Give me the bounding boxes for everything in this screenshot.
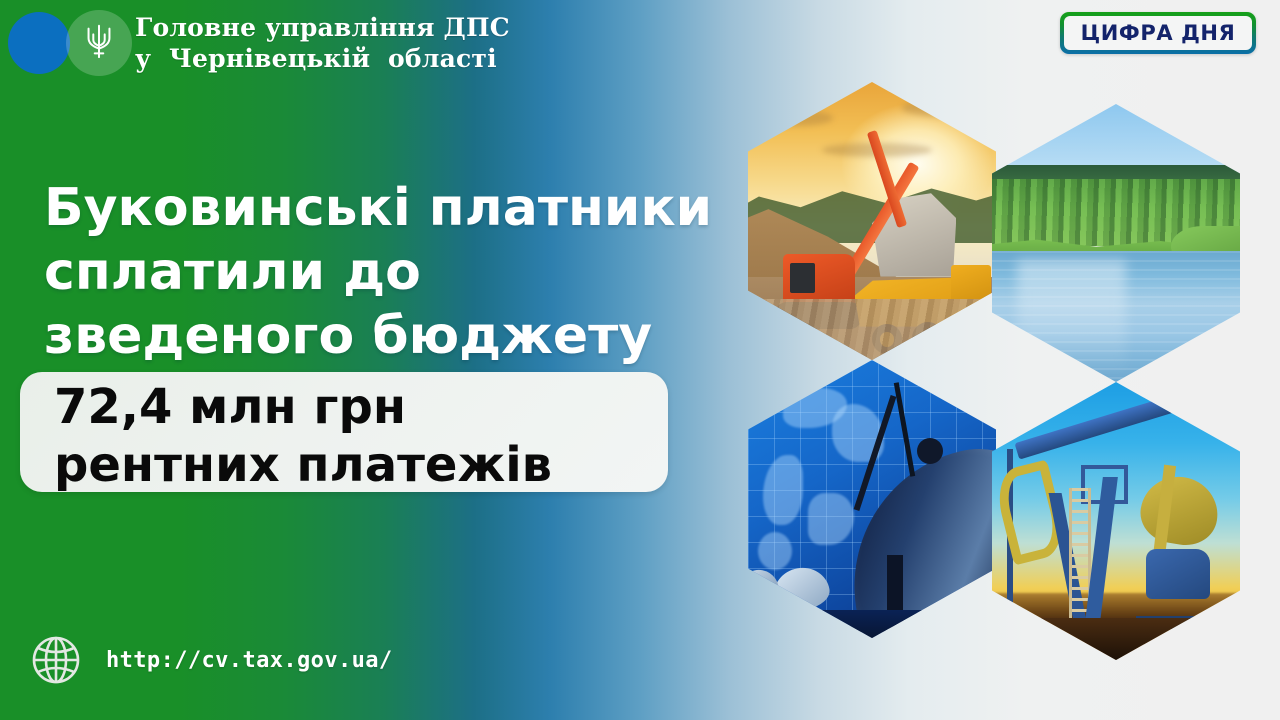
footer: http://cv.tax.gov.ua/ (28, 632, 393, 688)
hex-radio-image (748, 360, 996, 638)
ukraine-trident-icon (82, 22, 116, 65)
poster-canvas: Головне управління ДПС у Чернівецькій об… (0, 0, 1280, 720)
logo-blue-circle (8, 12, 70, 74)
highlight-amount-text: 72,4 млн грн рентних платежів (54, 378, 668, 494)
hex-oil-image (992, 382, 1240, 660)
globe-icon (28, 632, 84, 688)
logo-emblem-circle (66, 10, 132, 76)
hexagon-image-cluster (740, 82, 1250, 642)
figure-of-the-day-badge[interactable]: ЦИФРА ДНЯ (1060, 12, 1256, 54)
badge-label: ЦИФРА ДНЯ (1081, 21, 1236, 45)
hex-water-image (992, 104, 1240, 382)
website-url-link[interactable]: http://cv.tax.gov.ua/ (106, 648, 393, 673)
hex-mining-image (748, 82, 996, 360)
page-title: Буковинські платники сплатили до зведено… (44, 176, 744, 368)
badge-inner: ЦИФРА ДНЯ (1064, 16, 1252, 50)
organization-title: Головне управління ДПС у Чернівецькій об… (135, 12, 510, 74)
header-bar: Головне управління ДПС у Чернівецькій об… (0, 0, 1280, 88)
highlight-callout-box: 72,4 млн грн рентних платежів (20, 372, 668, 492)
